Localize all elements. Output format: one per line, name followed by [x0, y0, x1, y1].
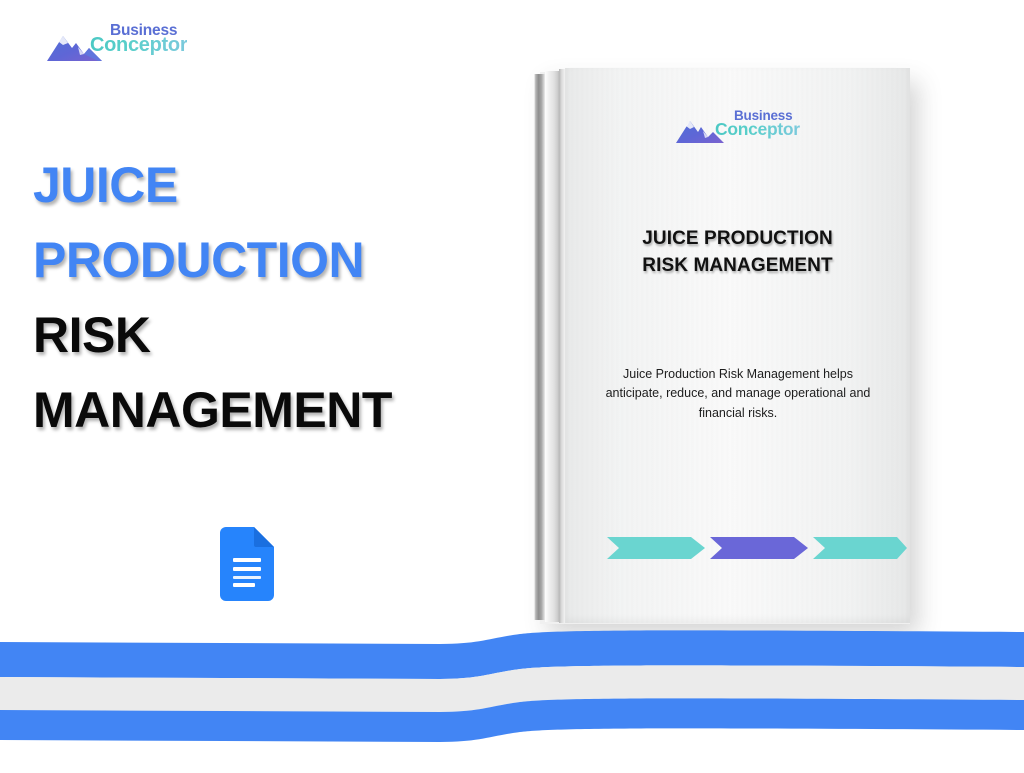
title-line-1: JUICE — [33, 148, 483, 223]
brand-wordmark: Business Conceptor — [90, 20, 250, 68]
book-brand-word-conceptor: Conceptor — [715, 121, 800, 139]
book-mockup: Business Conceptor JUICE PRODUCTION RISK… — [534, 68, 910, 624]
book-title: JUICE PRODUCTION RISK MANAGEMENT — [565, 226, 910, 280]
book-pages-edge — [545, 71, 559, 622]
chevron-2 — [710, 537, 808, 559]
book-description: Juice Production Risk Management helps a… — [601, 365, 875, 423]
book-spine — [534, 74, 545, 620]
page-title: JUICE PRODUCTION RISK MANAGEMENT — [33, 148, 483, 448]
book-title-line-1: JUICE PRODUCTION — [565, 226, 910, 253]
chevron-3 — [813, 537, 907, 559]
decorative-wave-bands — [0, 618, 1024, 768]
brand-logo: Business Conceptor — [46, 20, 246, 70]
slide-canvas: Business Conceptor JUICE PRODUCTION RISK… — [0, 0, 1024, 768]
google-docs-icon[interactable] — [220, 527, 274, 601]
title-line-4: MANAGEMENT — [33, 373, 483, 448]
book-chevron-graphic — [607, 534, 907, 562]
book-title-line-2: RISK MANAGEMENT — [565, 253, 910, 280]
title-line-2: PRODUCTION — [33, 223, 483, 298]
book-cover: Business Conceptor JUICE PRODUCTION RISK… — [565, 68, 910, 623]
brand-word-conceptor: Conceptor — [90, 35, 187, 55]
book-brand-logo: Business Conceptor — [675, 108, 827, 150]
title-line-3: RISK — [33, 298, 483, 373]
chevron-1 — [607, 537, 705, 559]
